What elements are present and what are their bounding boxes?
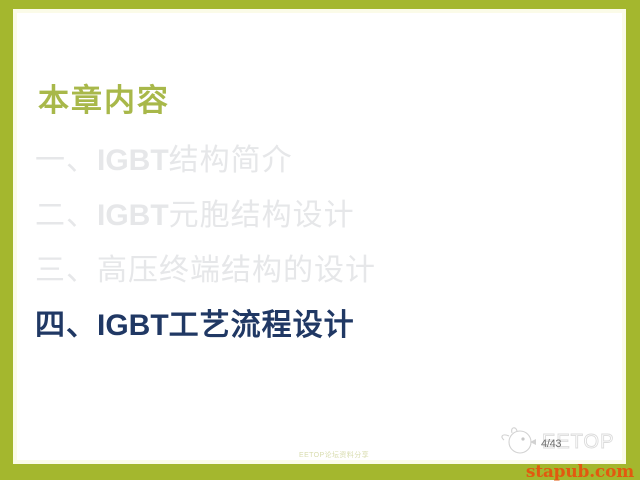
toc-item-4[interactable]: 四、IGBT工艺流程设计: [35, 298, 595, 353]
toc-item-1-label: 结构简介: [169, 143, 293, 178]
footer-note: EETOP论坛资料分享: [299, 450, 369, 460]
toc-item-2[interactable]: 二、IGBT元胞结构设计: [35, 188, 595, 243]
toc-item-1[interactable]: 一、IGBT结构简介: [35, 133, 595, 188]
toc-item-2-label: 元胞结构设计: [169, 198, 355, 233]
toc-item-3[interactable]: 三、高压终端结构的设计: [35, 243, 595, 298]
toc-item-3-marker: 三、: [35, 253, 97, 288]
frame-bar-right: [626, 0, 640, 480]
page-title: 本章内容: [38, 75, 170, 120]
toc-item-4-label: 工艺流程设计: [169, 308, 355, 343]
frame-hairline-right: [622, 9, 626, 464]
toc-item-3-label: 高压终端结构的设计: [97, 253, 376, 288]
frame-bar-top: [0, 0, 640, 9]
toc-item-1-latin: IGBT: [97, 144, 169, 177]
frame-bar-left: [0, 0, 13, 480]
site-watermark: stapub.com: [526, 462, 634, 482]
toc-item-4-latin: IGBT: [97, 309, 169, 342]
slide-content-area: 本章内容 一、IGBT结构简介 二、IGBT元胞结构设计 三、高压终端结构的设计…: [17, 13, 622, 460]
table-of-contents: 一、IGBT结构简介 二、IGBT元胞结构设计 三、高压终端结构的设计 四、IG…: [35, 133, 595, 353]
toc-item-2-latin: IGBT: [97, 199, 169, 232]
toc-item-4-marker: 四、: [35, 308, 97, 343]
toc-item-1-marker: 一、: [35, 143, 97, 178]
toc-item-2-marker: 二、: [35, 198, 97, 233]
page-number: 4/43: [541, 438, 561, 450]
slide-canvas: 本章内容 一、IGBT结构简介 二、IGBT元胞结构设计 三、高压终端结构的设计…: [0, 0, 640, 480]
